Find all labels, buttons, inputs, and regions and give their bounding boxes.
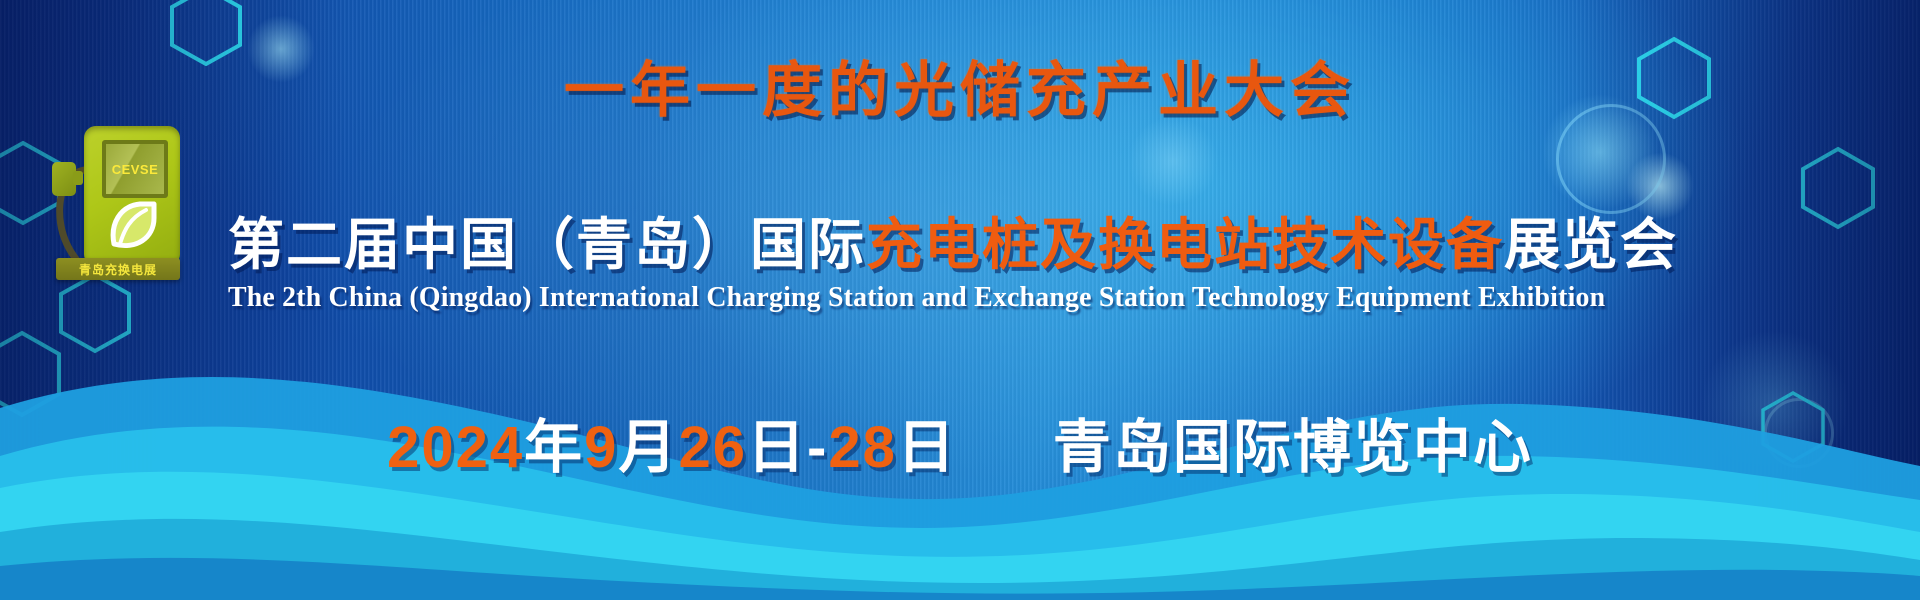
title-block: 第二届中国（青岛）国际充电桩及换电站技术设备展览会 The 2th China … <box>228 216 1788 314</box>
charger-nozzle-icon <box>52 162 76 196</box>
logo-plate: 青岛充换电展 <box>56 258 180 280</box>
event-banner: CEVSE 青岛充换电展 一年一度的光储充产业大会 第二届中国（青岛）国际充电桩… <box>0 0 1920 600</box>
logo-plate-text: 青岛充换电展 <box>79 261 157 278</box>
hexagon-icon-8 <box>1756 510 1822 584</box>
glow-blob-2 <box>1624 150 1696 222</box>
title-part-white-2: 展览会 <box>1504 213 1678 276</box>
event-logo: CEVSE 青岛充换电展 <box>36 118 200 296</box>
venue-name: 青岛国际博览中心 <box>1053 415 1533 480</box>
main-title: 第二届中国（青岛）国际充电桩及换电站技术设备展览会 <box>228 216 1788 275</box>
leaf-icon <box>106 200 158 252</box>
date-day-unit-2: 日 <box>897 415 957 480</box>
title-part-white-1: 第二届中国（青岛）国际 <box>228 213 866 276</box>
english-subtitle: The 2th China (Qingdao) International Ch… <box>228 281 1726 314</box>
charger-screen: CEVSE <box>102 140 168 198</box>
date-day-unit-1: 日 <box>747 415 807 480</box>
headline: 一年一度的光储充产业大会 <box>0 42 1920 129</box>
date-day-end: 28 <box>828 415 897 480</box>
date-year: 2024 <box>387 415 524 480</box>
charger-screen-text: CEVSE <box>112 162 159 177</box>
date-month: 9 <box>584 415 618 480</box>
charger-body-icon: CEVSE <box>84 126 180 266</box>
glow-blob-5 <box>1128 116 1218 206</box>
date-dash: - <box>807 415 828 480</box>
title-part-orange: 充电桩及换电站技术设备 <box>866 213 1504 276</box>
hexagon-icon-9 <box>14 520 74 588</box>
date-day-start: 26 <box>678 415 747 480</box>
hexagon-icon-6 <box>1800 146 1876 230</box>
date-month-unit: 月 <box>618 415 678 480</box>
date-venue-line: 2024年9月26日-28日青岛国际博览中心 <box>0 400 1920 484</box>
date-year-unit: 年 <box>524 415 584 480</box>
